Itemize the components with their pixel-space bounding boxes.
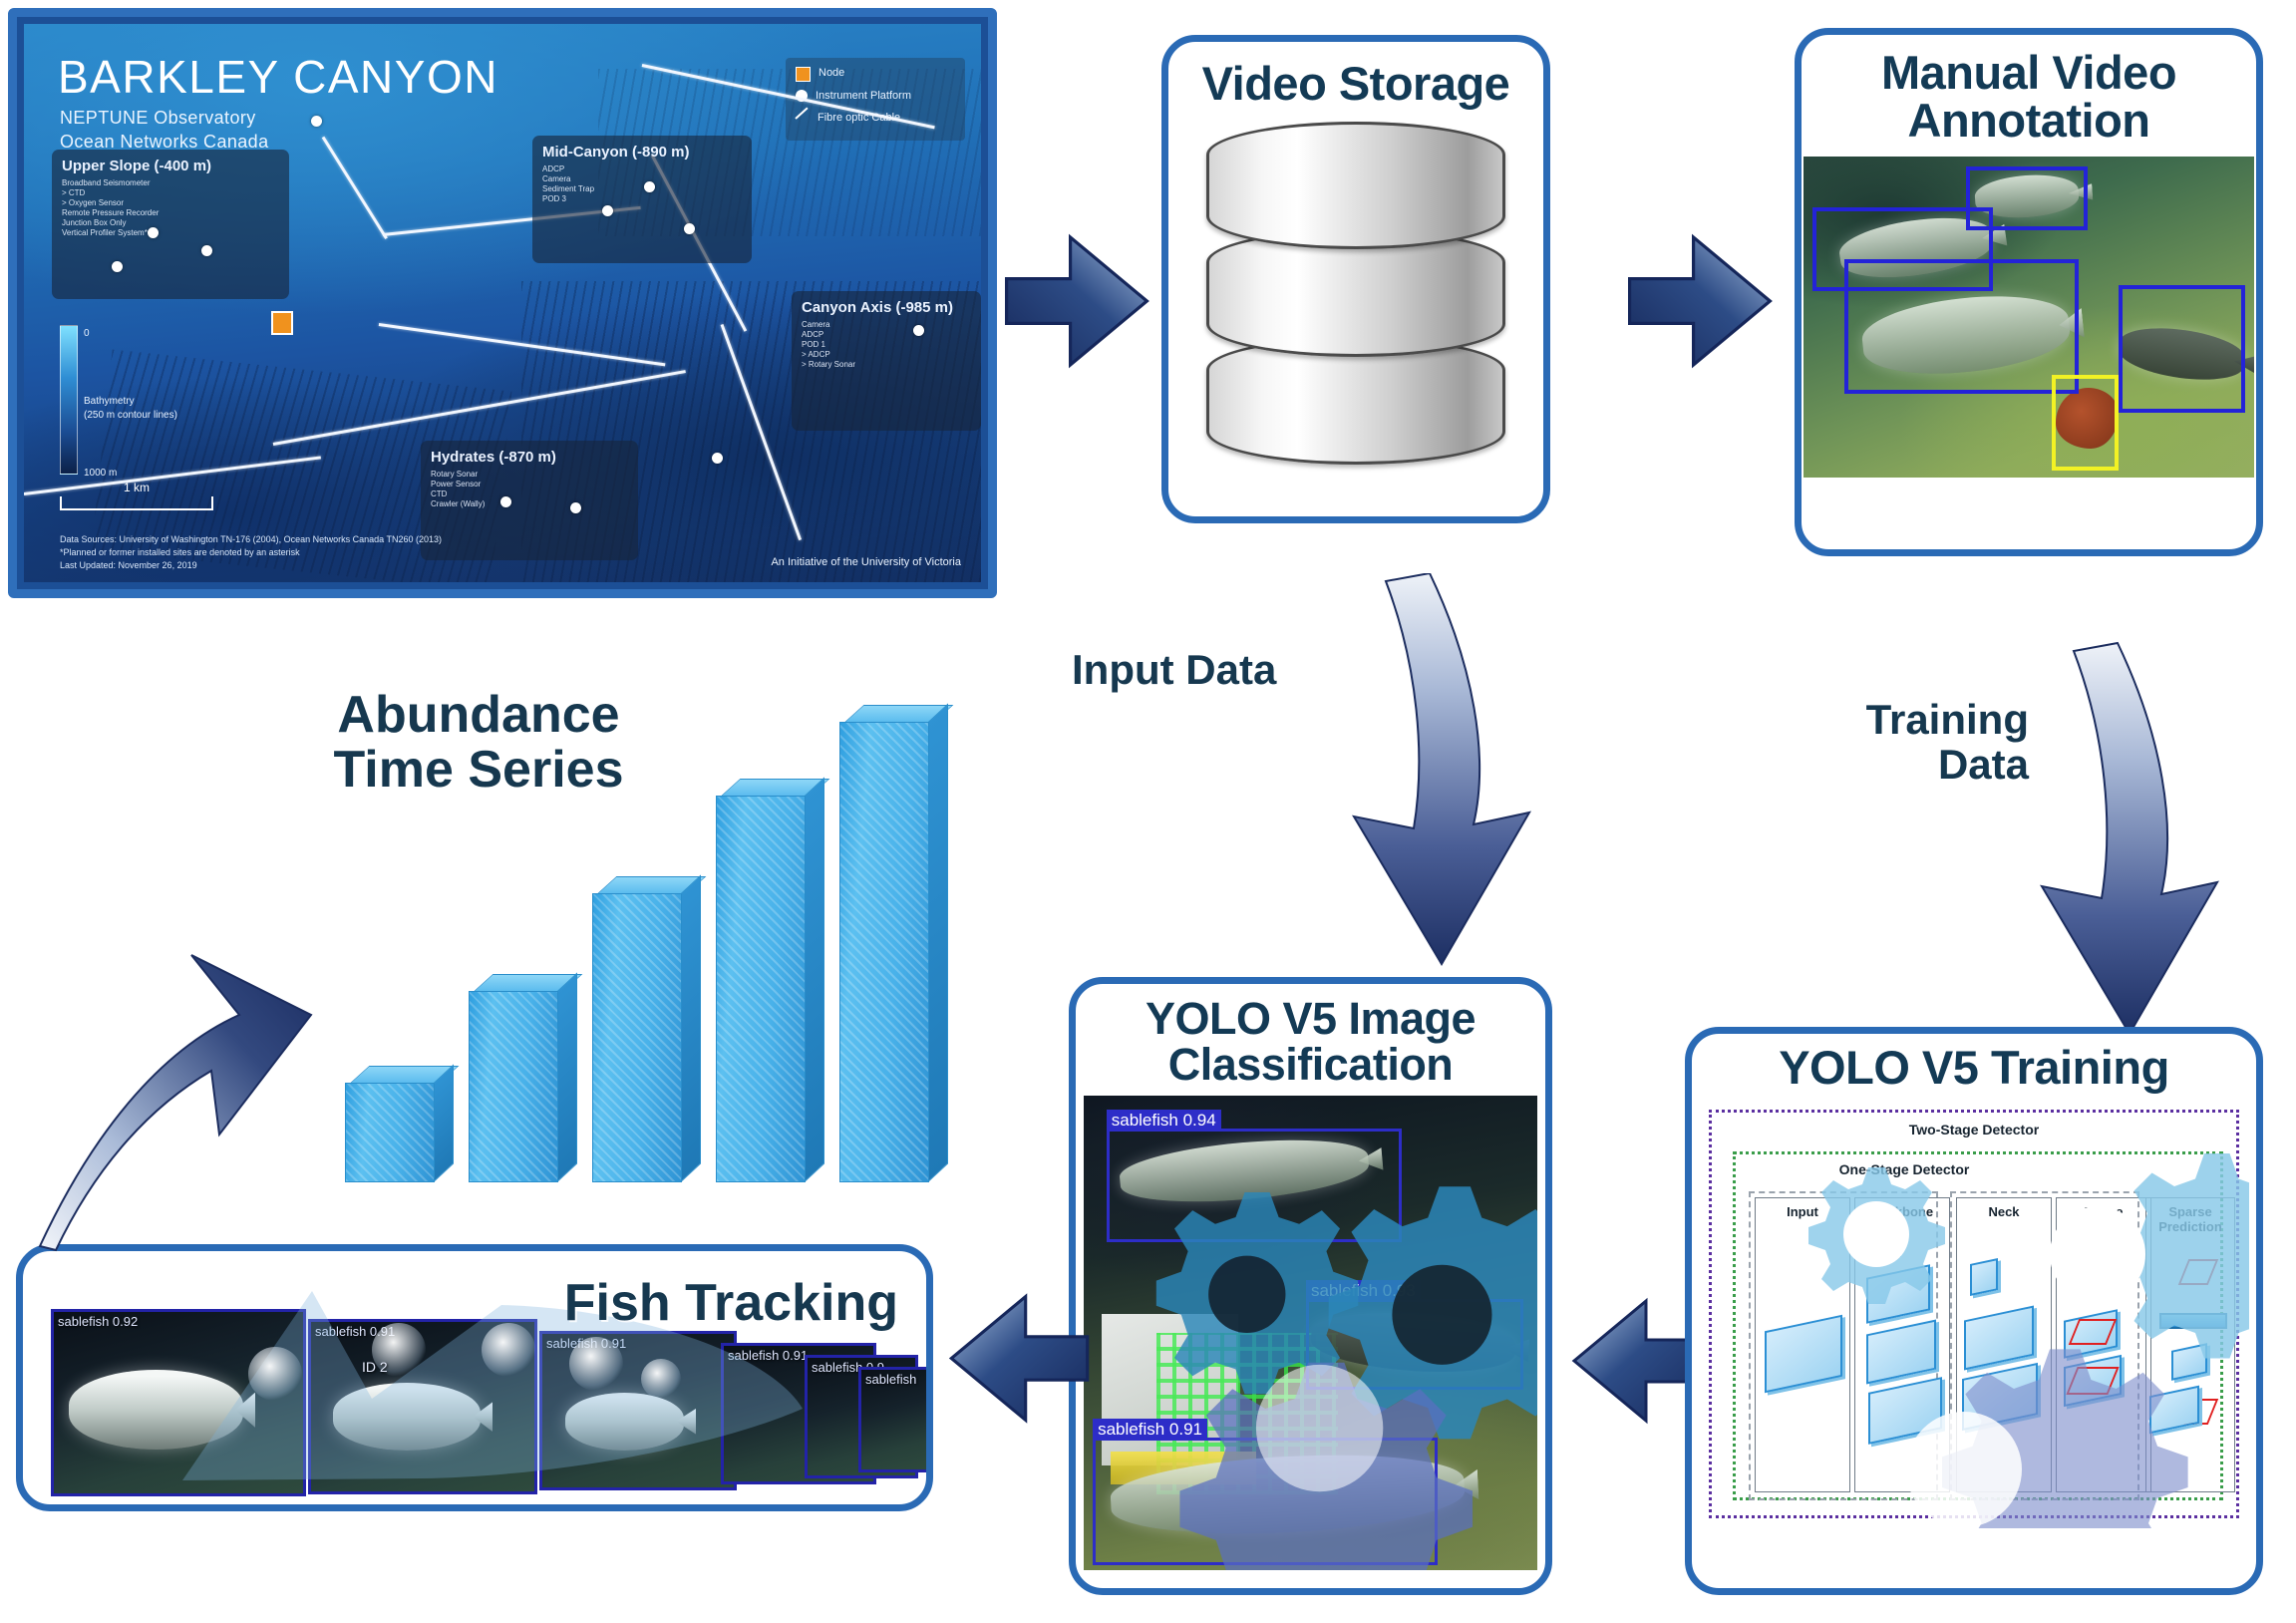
annotation-bbox-fish-3[interactable]	[1844, 259, 2079, 394]
map-scale-bar: 1 km	[60, 496, 213, 510]
map-initiative-text: An Initiative of the University of Victo…	[771, 556, 961, 568]
bathymetry-colorbar	[60, 325, 78, 475]
yolo-classification-title: YOLO V5 Image Classification	[1076, 996, 1545, 1088]
site-title-upper-slope: Upper Slope (-400 m)	[62, 158, 279, 174]
bathymetry-bottom-label: 1000 m	[84, 468, 117, 479]
tracking-frame-label: sablefish	[865, 1372, 916, 1387]
yolo-training-title: YOLO V5 Training	[1779, 1044, 2169, 1092]
site-title-canyon-axis: Canyon Axis (-985 m)	[802, 299, 971, 316]
tracking-frame[interactable]: sablefish 0.91	[539, 1331, 737, 1490]
site-instrument: POD 1	[802, 340, 971, 350]
site-instrument: Rotary Sonar	[431, 470, 628, 480]
tracking-frame-label: sablefish 0.92	[58, 1314, 138, 1329]
site-instrument: Crawler (Wally)	[431, 499, 628, 509]
bar-t3	[592, 893, 682, 1182]
bar-t2	[469, 991, 558, 1182]
map-title: BARKLEY CANYON	[58, 50, 498, 104]
site-instrument: Camera	[542, 174, 742, 184]
annotation-bbox-fish-2[interactable]	[1966, 166, 2088, 230]
site-instrument: > CTD	[62, 188, 279, 198]
node-marker-icon	[271, 311, 293, 335]
fish-tracking-panel[interactable]: Fish Tracking sablefish 0.92 sablefish 0…	[16, 1244, 933, 1511]
site-instrument: > ADCP	[802, 350, 971, 360]
site-box-canyon-axis: Canyon Axis (-985 m) Camera ADCP POD 1 >…	[792, 291, 981, 431]
credit-line: Last Updated: November 26, 2019	[60, 559, 442, 572]
fish-tracking-title: Fish Tracking	[564, 1273, 898, 1333]
annotation-bbox-other-species[interactable]	[2052, 375, 2120, 472]
bar-t5	[839, 722, 929, 1182]
tracking-frame[interactable]: sablefish 0.92	[51, 1309, 306, 1496]
node-square-icon	[796, 67, 811, 82]
map-subtitle-observatory: NEPTUNE Observatory	[60, 108, 256, 129]
annotation-bbox-fish-4[interactable]	[2119, 285, 2245, 414]
bathymetry-sublabel: (250 m contour lines)	[84, 410, 177, 421]
gears-icon	[1084, 1096, 1537, 1570]
database-cylinder-icon	[1206, 122, 1505, 471]
site-instrument: > Oxygen Sensor	[62, 198, 279, 208]
site-box-upper-slope: Upper Slope (-400 m) Broadband Seismomet…	[52, 150, 289, 299]
site-instrument: Sediment Trap	[542, 184, 742, 194]
curved-down-arrow-icon-training-data	[1994, 638, 2243, 1047]
site-instrument: POD 3	[542, 194, 742, 204]
scale-bar-label: 1 km	[62, 481, 211, 494]
fibre-optic-cable-line-icon	[796, 112, 810, 125]
gears-icon	[1699, 1100, 2249, 1528]
yolo-classification-panel[interactable]: YOLO V5 Image Classification sablefish 0…	[1069, 977, 1552, 1595]
right-arrow-icon-storage-to-annotation	[1620, 221, 1780, 381]
site-instrument: Broadband Seismometer	[62, 178, 279, 188]
credit-line: *Planned or former installed sites are d…	[60, 546, 442, 559]
abundance-title-line-2: Time Series	[279, 743, 678, 798]
workflow-diagram: BARKLEY CANYON NEPTUNE Observatory Ocean…	[0, 0, 2296, 1623]
site-instrument: > Rotary Sonar	[802, 360, 971, 370]
site-instrument: Remote Pressure Recorder	[62, 208, 279, 218]
legend-label-platform: Instrument Platform	[816, 89, 911, 104]
legend-row-node: Node	[796, 66, 955, 82]
site-title-hydrates: Hydrates (-870 m)	[431, 449, 628, 466]
abundance-time-series-chart: Abundance Time Series	[160, 688, 957, 1196]
edge-label-input-data: Input Data	[1072, 648, 1341, 693]
bar-t1	[345, 1083, 435, 1182]
site-title-mid-canyon: Mid-Canyon (-890 m)	[542, 144, 742, 161]
left-arrow-icon-classification-to-tracking	[942, 1281, 1097, 1436]
manual-annotation-title: Manual Video Annotation	[1802, 49, 2256, 145]
tracking-frame-label: sablefish 0.91	[728, 1348, 808, 1363]
map-credits: Data Sources: University of Washington T…	[60, 533, 442, 572]
site-instrument: CTD	[431, 489, 628, 499]
right-arrow-icon-map-to-storage	[997, 221, 1156, 381]
site-instrument: Junction Box Only	[62, 218, 279, 228]
bathymetry-top-label: 0	[84, 328, 90, 339]
credit-line: Data Sources: University of Washington T…	[60, 533, 442, 546]
abundance-title-line-1: Abundance	[279, 688, 678, 743]
legend-label-node: Node	[819, 66, 844, 81]
site-instrument: Camera	[802, 320, 971, 330]
track-id-label: ID 2	[362, 1359, 388, 1375]
manual-video-annotation-panel[interactable]: Manual Video Annotation	[1795, 28, 2263, 556]
annotated-underwater-frame	[1804, 157, 2254, 478]
site-instrument: ADCP	[542, 164, 742, 174]
curved-down-arrow-icon-input-data	[1306, 573, 1555, 972]
bathymetry-label: Bathymetry	[84, 396, 135, 407]
site-instrument: ADCP	[802, 330, 971, 340]
abundance-chart-title: Abundance Time Series	[279, 688, 678, 797]
site-instrument: Power Sensor	[431, 480, 628, 489]
site-box-hydrates: Hydrates (-870 m) Rotary Sonar Power Sen…	[421, 441, 638, 560]
barkley-canyon-map-panel[interactable]: BARKLEY CANYON NEPTUNE Observatory Ocean…	[8, 8, 997, 598]
yolo-architecture-diagram: Two-Stage Detector One-Stage Detector In…	[1699, 1100, 2249, 1528]
site-instrument: Vertical Profiler System*	[62, 228, 279, 238]
site-box-mid-canyon: Mid-Canyon (-890 m) ADCP Camera Sediment…	[532, 136, 752, 263]
video-storage-title: Video Storage	[1202, 60, 1510, 108]
map-image: BARKLEY CANYON NEPTUNE Observatory Ocean…	[24, 24, 981, 582]
tracking-frame[interactable]: sablefish	[858, 1367, 926, 1472]
bar-t4	[716, 796, 806, 1182]
video-storage-panel[interactable]: Video Storage	[1161, 35, 1550, 523]
yolo-training-panel[interactable]: YOLO V5 Training Two-Stage Detector One-…	[1685, 1027, 2263, 1595]
classified-underwater-frame: sablefish 0.94 sablefish 0.93 sablefish …	[1084, 1096, 1537, 1570]
